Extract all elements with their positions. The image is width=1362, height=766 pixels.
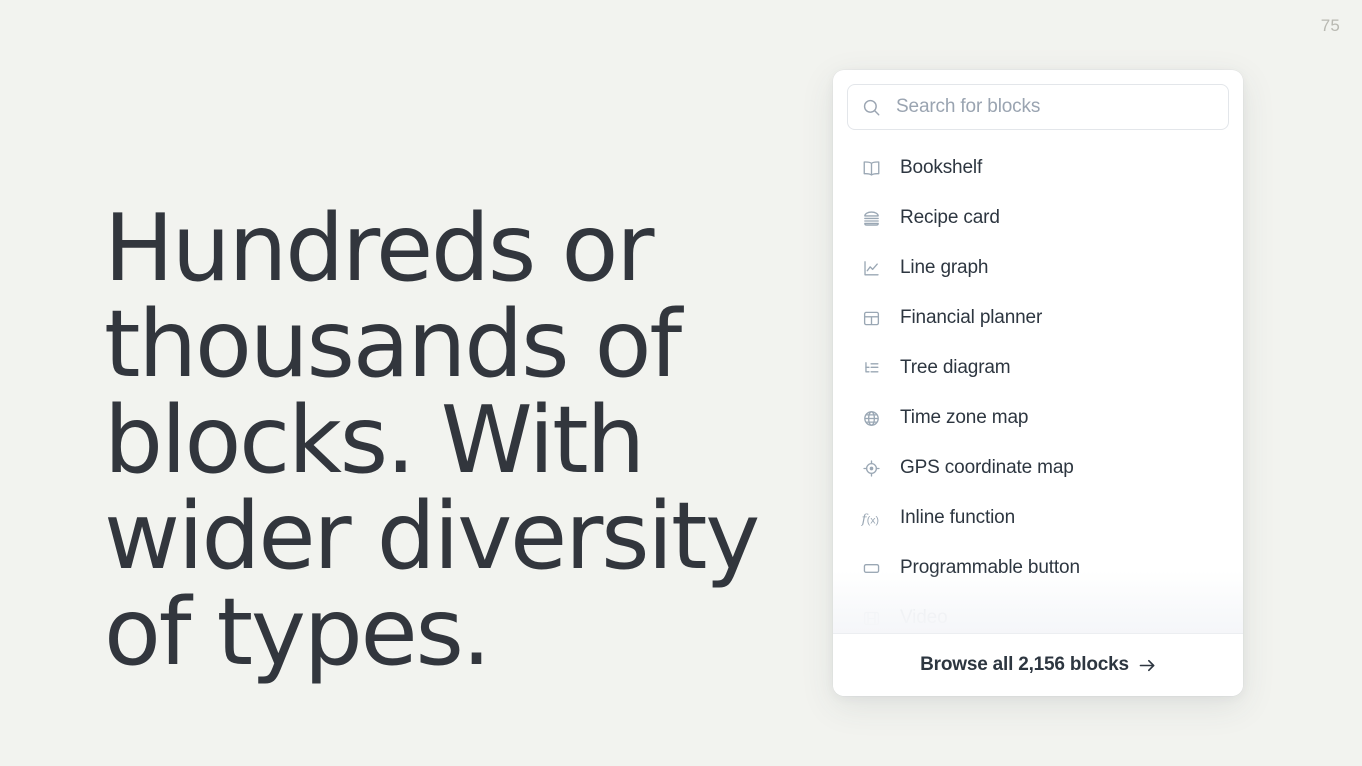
- list-item-label: GPS coordinate map: [900, 457, 1074, 479]
- function-fx-icon: f (x): [861, 507, 887, 529]
- list-item-gps-coordinate-map[interactable]: GPS coordinate map: [833, 443, 1243, 493]
- search-box[interactable]: [847, 84, 1229, 130]
- list-item-label: Inline function: [900, 507, 1015, 529]
- page-title: Hundreds or thousands of blocks. With wi…: [104, 200, 764, 680]
- list-item-bookshelf[interactable]: Bookshelf: [833, 143, 1243, 193]
- svg-text:(x): (x): [867, 514, 879, 526]
- list-item-label: Line graph: [900, 257, 988, 279]
- list-item-label: Tree diagram: [900, 357, 1010, 379]
- list-item-recipe-card[interactable]: Recipe card: [833, 193, 1243, 243]
- crosshair-target-icon: [861, 457, 887, 479]
- list-item-programmable-button[interactable]: Programmable button: [833, 543, 1243, 593]
- page-number: 75: [1321, 16, 1340, 36]
- browse-all-blocks-button[interactable]: Browse all 2,156 blocks: [833, 633, 1243, 696]
- globe-icon: [861, 407, 887, 429]
- table-grid-icon: [861, 307, 887, 329]
- stacked-layers-icon: [861, 207, 887, 229]
- list-item-label: Video: [900, 607, 948, 629]
- list-item-time-zone-map[interactable]: Time zone map: [833, 393, 1243, 443]
- list-item-financial-planner[interactable]: Financial planner: [833, 293, 1243, 343]
- rectangle-icon: [861, 557, 887, 579]
- list-item-line-graph[interactable]: Line graph: [833, 243, 1243, 293]
- list-item-label: Programmable button: [900, 557, 1080, 579]
- line-chart-icon: [861, 257, 887, 279]
- list-item-inline-function[interactable]: f (x) Inline function: [833, 493, 1243, 543]
- block-list: Bookshelf Recipe card Line graph: [833, 130, 1243, 633]
- film-strip-icon: [861, 607, 887, 629]
- search-section: [833, 70, 1243, 130]
- list-item-label: Bookshelf: [900, 157, 982, 179]
- tree-list-icon: [861, 357, 887, 379]
- search-input[interactable]: [894, 95, 1214, 119]
- list-item-video[interactable]: Video: [833, 593, 1243, 633]
- search-icon: [862, 98, 881, 117]
- list-item-label: Time zone map: [900, 407, 1028, 429]
- browse-all-label: Browse all 2,156 blocks: [920, 654, 1129, 676]
- list-item-label: Recipe card: [900, 207, 1000, 229]
- book-open-icon: [861, 157, 887, 179]
- list-item-tree-diagram[interactable]: Tree diagram: [833, 343, 1243, 393]
- arrow-right-icon: [1139, 658, 1156, 673]
- block-picker-card: Bookshelf Recipe card Line graph: [833, 70, 1243, 696]
- list-item-label: Financial planner: [900, 307, 1042, 329]
